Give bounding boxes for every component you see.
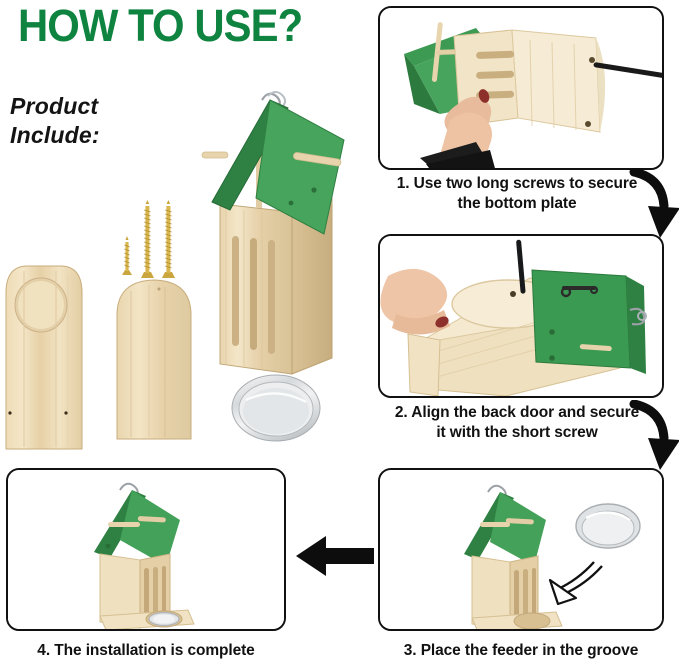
part-screws — [118, 196, 182, 284]
arrow-step-3-to-4-icon — [296, 532, 374, 580]
step-panel-4 — [6, 468, 286, 631]
product-butterfly-house — [196, 86, 354, 381]
short-screw — [122, 236, 132, 275]
part-bottom-plate — [4, 263, 84, 453]
part-back-door — [115, 277, 193, 442]
step-panel-2 — [378, 234, 664, 398]
page-title: HOW TO USE? — [18, 2, 302, 49]
long-screw-1 — [141, 200, 154, 278]
arrow-step-1-to-2-icon — [628, 168, 679, 242]
step-2-caption: 2. Align the back door and secure it wit… — [378, 403, 656, 444]
step-2-illustration — [380, 236, 664, 398]
step-1-caption: 1. Use two long screws to secure the bot… — [378, 174, 656, 215]
step-3-illustration — [380, 470, 664, 631]
step-3-caption: 3. Place the feeder in the groove — [378, 641, 664, 661]
product-include-label: Product Include: — [10, 92, 100, 151]
step-4-caption: 4. The installation is complete — [6, 641, 286, 661]
step-panel-1 — [378, 6, 664, 170]
infographic-sheet: HOW TO USE? Product Include: — [0, 0, 679, 669]
arrow-step-2-to-3-icon — [628, 400, 679, 474]
step-4-illustration — [8, 470, 286, 631]
step-1-illustration — [380, 8, 664, 170]
step-panel-3 — [378, 468, 664, 631]
feeder-dish — [576, 504, 640, 548]
long-screw-2 — [162, 200, 175, 278]
